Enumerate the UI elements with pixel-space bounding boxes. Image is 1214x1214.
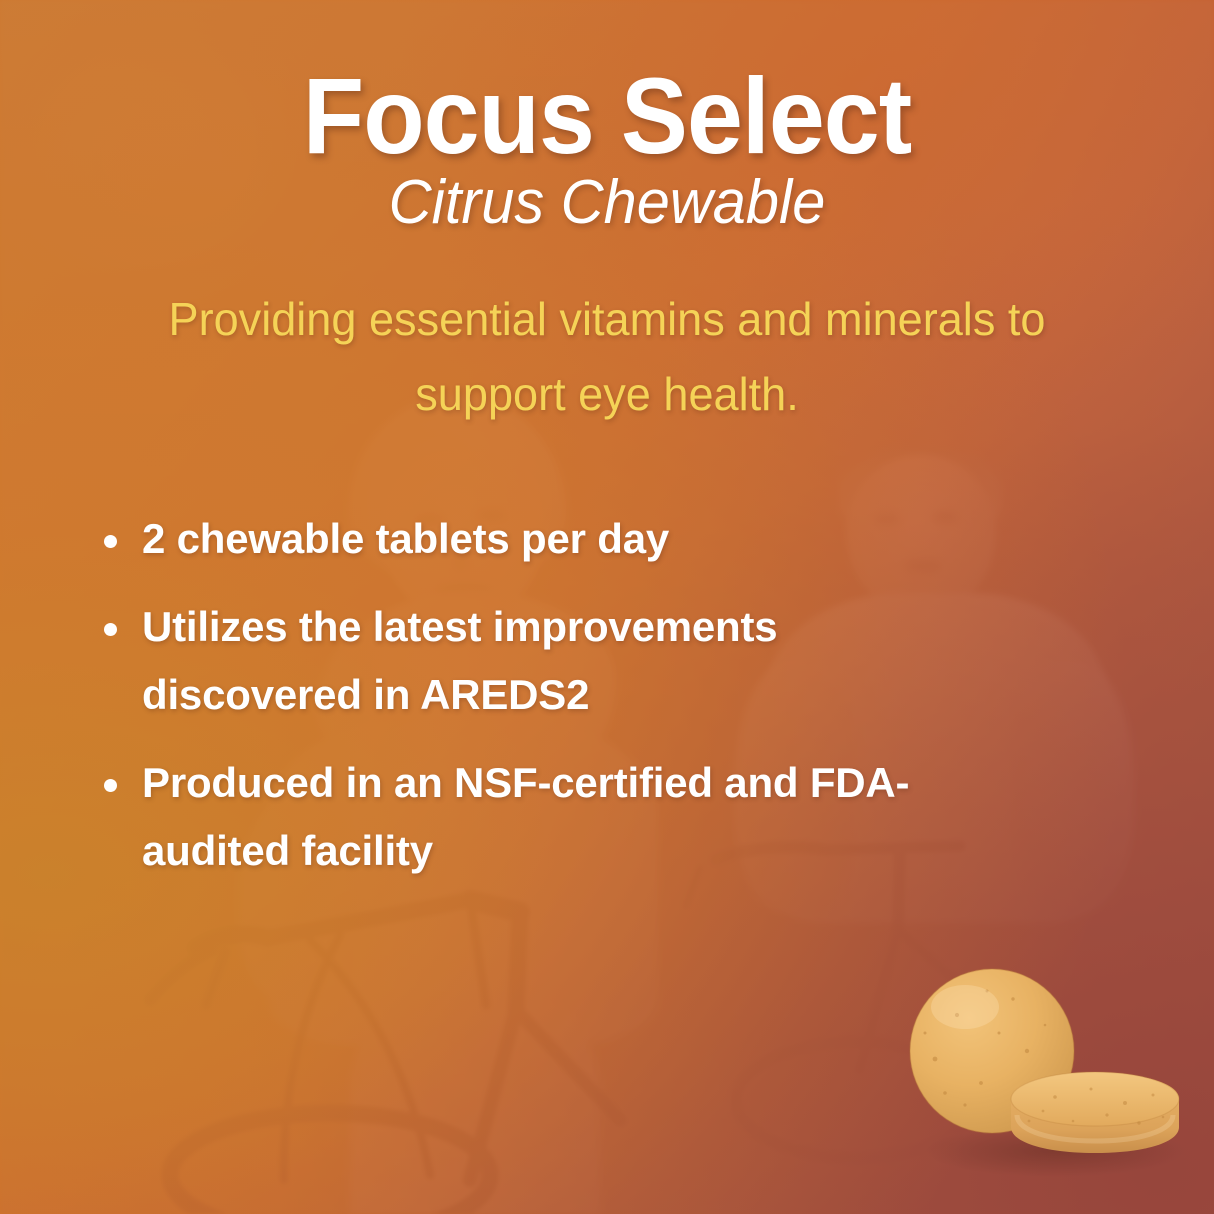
list-item: 2 chewable tablets per day <box>96 505 996 573</box>
text-content: Focus Select Citrus Chewable Providing e… <box>0 0 1214 1214</box>
page-title: Focus Select <box>42 62 1171 170</box>
product-marketing-banner: Focus Select Citrus Chewable Providing e… <box>0 0 1214 1214</box>
list-item: Utilizes the latest improvements discove… <box>96 593 996 729</box>
product-subtitle: Citrus Chewable <box>24 172 1189 234</box>
tagline: Providing essential vitamins and mineral… <box>110 282 1104 431</box>
feature-list: 2 chewable tablets per day Utilizes the … <box>96 505 996 905</box>
list-item: Produced in an NSF-certified and FDA-aud… <box>96 749 996 885</box>
